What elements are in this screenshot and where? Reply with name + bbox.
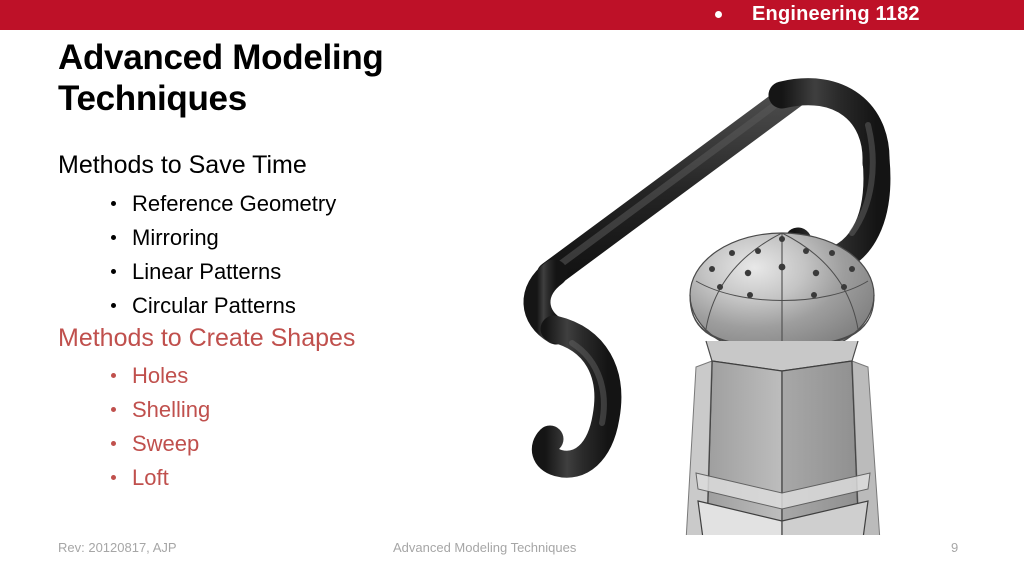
list-item: Reference Geometry [108, 187, 336, 221]
bullet-dot-icon [111, 235, 116, 240]
list-item-label: Shelling [132, 397, 210, 422]
bullet-dot-icon [111, 201, 116, 206]
bullet-list-save-time: Reference Geometry Mirroring Linear Patt… [108, 187, 336, 323]
section-heading-save-time: Methods to Save Time [58, 150, 307, 180]
list-item-label: Loft [132, 465, 169, 490]
page-title-line-1: Advanced Modeling [58, 38, 488, 79]
list-item: Linear Patterns [108, 255, 336, 289]
course-title: Engineering 1182 [752, 3, 920, 26]
header-bar: Engineering 1182 [0, 0, 1024, 30]
bullet-dot-icon [111, 441, 116, 446]
presentation-slide: Engineering 1182 Advanced Modeling Techn… [0, 0, 1024, 576]
bullet-list-create-shapes: Holes Shelling Sweep Loft [108, 359, 210, 495]
bullet-dot-icon [111, 407, 116, 412]
slide-artwork [510, 55, 910, 535]
footer-title: Advanced Modeling Techniques [393, 540, 576, 555]
list-item-label: Linear Patterns [132, 259, 281, 284]
salt-shaker-3d-model [686, 233, 880, 535]
list-item: Loft [108, 461, 210, 495]
footer-revision: Rev: 20120817, AJP [58, 540, 177, 555]
page-title: Advanced Modeling Techniques [58, 38, 488, 120]
bullet-dot-icon [715, 11, 722, 18]
section-heading-create-shapes: Methods to Create Shapes [58, 323, 355, 353]
list-item-label: Sweep [132, 431, 199, 456]
list-item: Sweep [108, 427, 210, 461]
list-item: Circular Patterns [108, 289, 336, 323]
list-item-label: Holes [132, 363, 188, 388]
list-item: Holes [108, 359, 210, 393]
page-title-line-2: Techniques [58, 79, 488, 120]
bullet-dot-icon [111, 475, 116, 480]
list-item-label: Circular Patterns [132, 293, 296, 318]
list-item: Mirroring [108, 221, 336, 255]
footer-page-number: 9 [951, 540, 958, 555]
bullet-dot-icon [111, 303, 116, 308]
list-item-label: Mirroring [132, 225, 219, 250]
bullet-dot-icon [111, 269, 116, 274]
list-item: Shelling [108, 393, 210, 427]
list-item-label: Reference Geometry [132, 191, 336, 216]
bullet-dot-icon [111, 373, 116, 378]
